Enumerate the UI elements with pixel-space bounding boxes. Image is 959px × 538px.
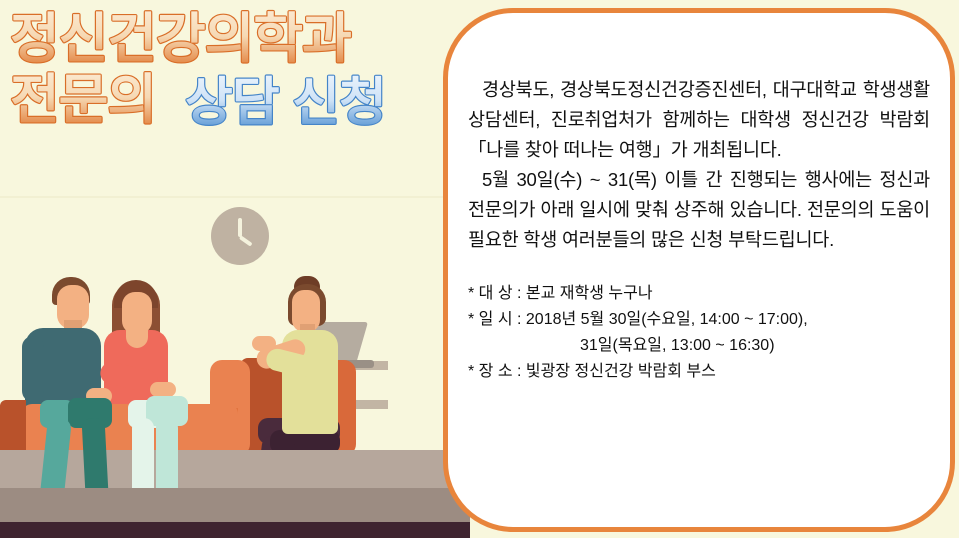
info-panel-content: 경상북도, 경상북도정신건강증진센터, 대구대학교 학생생활상담센터, 진로취업… <box>468 75 930 515</box>
floor-baseboard <box>0 522 470 538</box>
floor-upper <box>0 450 470 488</box>
paragraph-schedule: 5월 30일(수) ~ 31(목) 이틀 간 진행되는 행사에는 정신과 전문의… <box>468 165 930 255</box>
floor-lower <box>0 488 470 522</box>
wall-clock-icon <box>211 207 269 265</box>
poster-title: 정신건강의학과 전문의 상담 신청 <box>0 0 460 140</box>
woman-head <box>122 292 152 334</box>
poster: 정신건강의학과 전문의 상담 신청 경상북도, 경상북도정신건강증진센터, 대구… <box>0 0 959 538</box>
details-list: * 대 상 : 본교 재학생 누구나 * 일 시 : 2018년 5월 30일(… <box>468 281 930 385</box>
title-line2-orange: 전문의 <box>10 70 156 130</box>
paragraph-intro: 경상북도, 경상북도정신건강증진센터, 대구대학교 학생생활상담센터, 진로취업… <box>468 75 930 165</box>
detail-datetime-second: 31일(목요일, 13:00 ~ 16:30) <box>468 333 930 359</box>
man-arm <box>22 336 44 402</box>
wall-moulding <box>0 196 470 198</box>
woman-hand <box>150 382 176 397</box>
info-panel: 경상북도, 경상북도정신건강증진센터, 대구대학교 학생생활상담센터, 진로취업… <box>443 8 955 532</box>
detail-datetime: * 일 시 : 2018년 5월 30일(수요일, 14:00 ~ 17:00)… <box>468 307 930 333</box>
title-line1: 정신건강의학과 <box>10 9 351 69</box>
detail-location: * 장 소 : 빛광장 정신건강 박람회 부스 <box>468 359 930 385</box>
title-line2-blue: 상담 신청 <box>185 74 386 132</box>
detail-target: * 대 상 : 본교 재학생 누구나 <box>468 281 930 307</box>
